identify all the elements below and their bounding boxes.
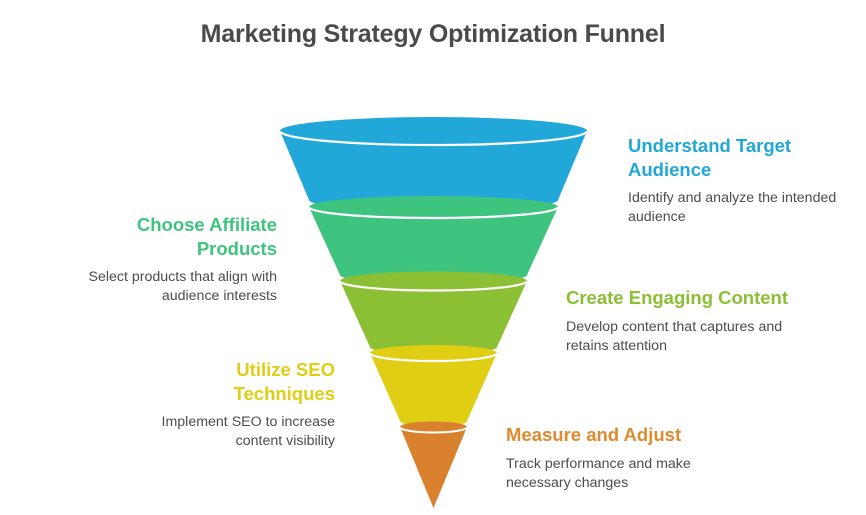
stage-3-title: Create Engaging Content [566, 286, 796, 310]
stage-label-choose-affiliate-products[interactable]: Choose Affiliate Products Select product… [68, 213, 277, 306]
page-title: Marketing Strategy Optimization Funnel [0, 20, 866, 49]
segment-1-rim-highlight [280, 131, 587, 145]
segment-3-cap [340, 272, 527, 291]
funnel-segment-1[interactable] [280, 117, 587, 211]
segment-1-cap [280, 117, 587, 145]
segment-5-cap [400, 422, 467, 433]
stage-1-description: Identify and analyze the intended audien… [628, 189, 860, 227]
funnel-segment-2[interactable] [309, 196, 558, 284]
segment-2-rim-highlight [309, 207, 558, 218]
stage-4-title: Utilize SEO Techniques [140, 358, 335, 405]
segment-2-cap [309, 196, 558, 218]
stage-1-title: Understand Target Audience [628, 134, 860, 181]
funnel-segment-4[interactable] [370, 345, 497, 427]
segment-3-body [340, 281, 527, 355]
stage-2-description: Select products that align with audience… [68, 268, 277, 306]
stage-label-measure-and-adjust[interactable]: Measure and Adjust Track performance and… [506, 423, 756, 492]
stage-5-description: Track performance and make necessary cha… [506, 455, 756, 493]
stage-2-title: Choose Affiliate Products [68, 213, 277, 260]
segment-2-body [309, 207, 558, 284]
funnel-segment-5[interactable] [400, 422, 467, 509]
funnel-segment-3[interactable] [340, 272, 527, 355]
stage-label-create-engaging-content[interactable]: Create Engaging Content Develop content … [566, 286, 796, 355]
segment-4-body [370, 353, 497, 427]
stage-4-description: Implement SEO to increase content visibi… [140, 413, 335, 451]
segment-5-rim-highlight [400, 427, 467, 433]
segment-3-rim-highlight [340, 281, 527, 291]
stage-5-title: Measure and Adjust [506, 423, 756, 447]
segment-1-body [280, 131, 587, 211]
stage-3-description: Develop content that captures and retain… [566, 318, 796, 356]
segment-4-cap [370, 345, 497, 361]
funnel-diagram: Marketing Strategy Optimization Funnel [0, 0, 866, 515]
stage-label-understand-target-audience[interactable]: Understand Target Audience Identify and … [628, 134, 860, 227]
stage-label-utilize-seo-techniques[interactable]: Utilize SEO Techniques Implement SEO to … [140, 358, 335, 451]
segment-4-rim-highlight [370, 353, 497, 361]
segment-5-body [400, 427, 467, 508]
